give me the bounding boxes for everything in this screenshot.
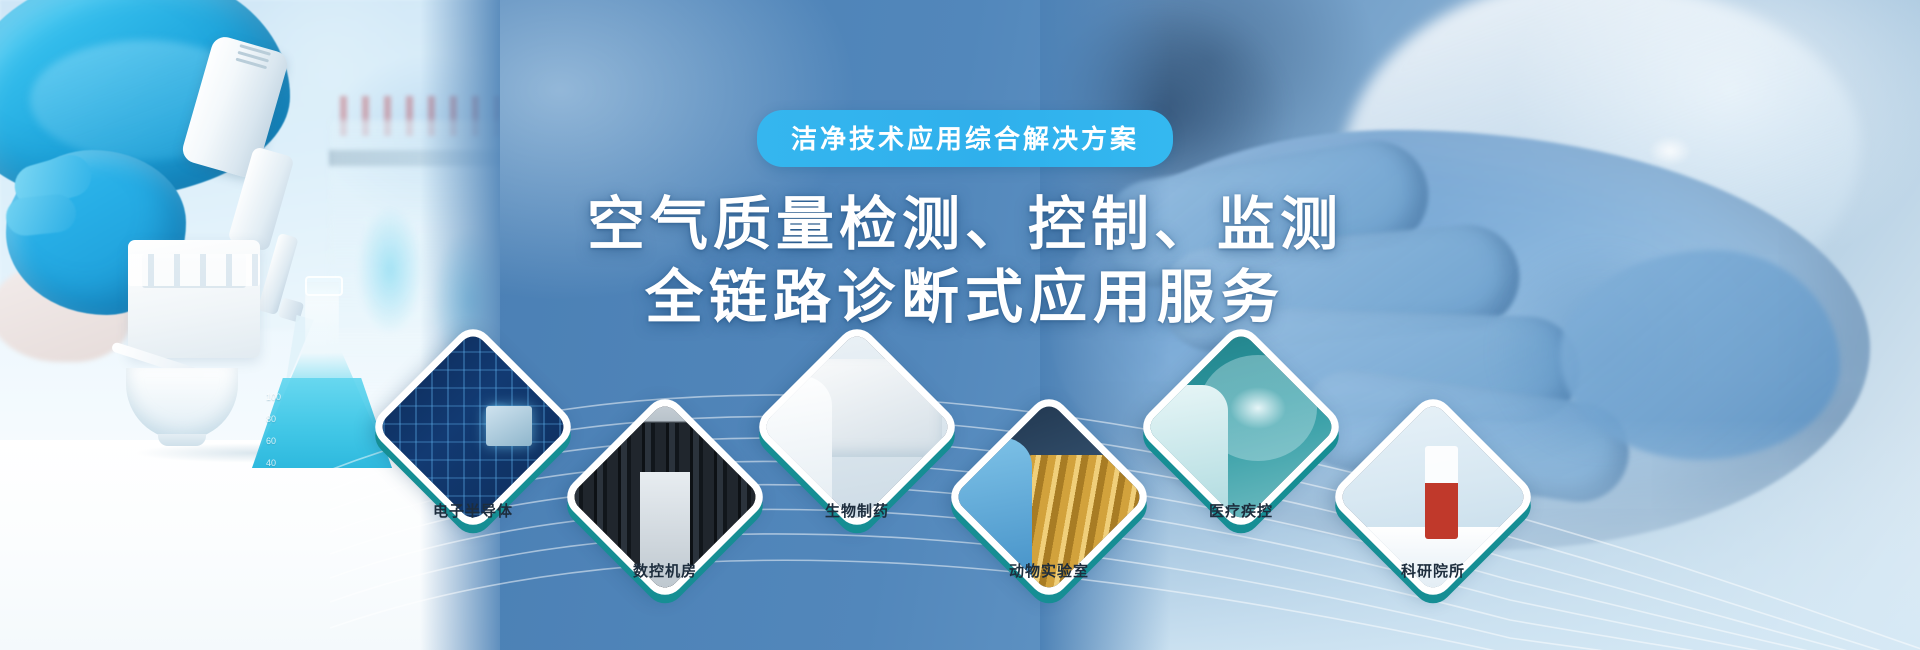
industry-card-label-animal-lab: 动物实验室 <box>974 560 1124 581</box>
industry-card-label-medical-cdc: 医疗疾控 <box>1166 500 1316 521</box>
industry-card-label-biopharma: 生物制药 <box>782 500 932 521</box>
medical-cdc-icon <box>1145 331 1337 523</box>
industry-card-label-semiconductor: 电子半导体 <box>398 500 548 521</box>
card-frame <box>1145 331 1337 523</box>
card-frame <box>377 331 569 523</box>
semiconductor-chip-icon <box>377 331 569 523</box>
card-frame <box>761 331 953 523</box>
industry-card-label-server-room: 数控机房 <box>590 560 740 581</box>
industry-card-row: 电子半导体 数控机房 生物制药 动物实验室 医疗疾控 <box>0 0 1920 650</box>
industry-card-label-research-institute: 科研院所 <box>1358 560 1508 581</box>
cleanroom-solution-banner: 100 80 60 40 <box>0 0 1920 650</box>
pharmaceutical-icon <box>761 331 953 523</box>
